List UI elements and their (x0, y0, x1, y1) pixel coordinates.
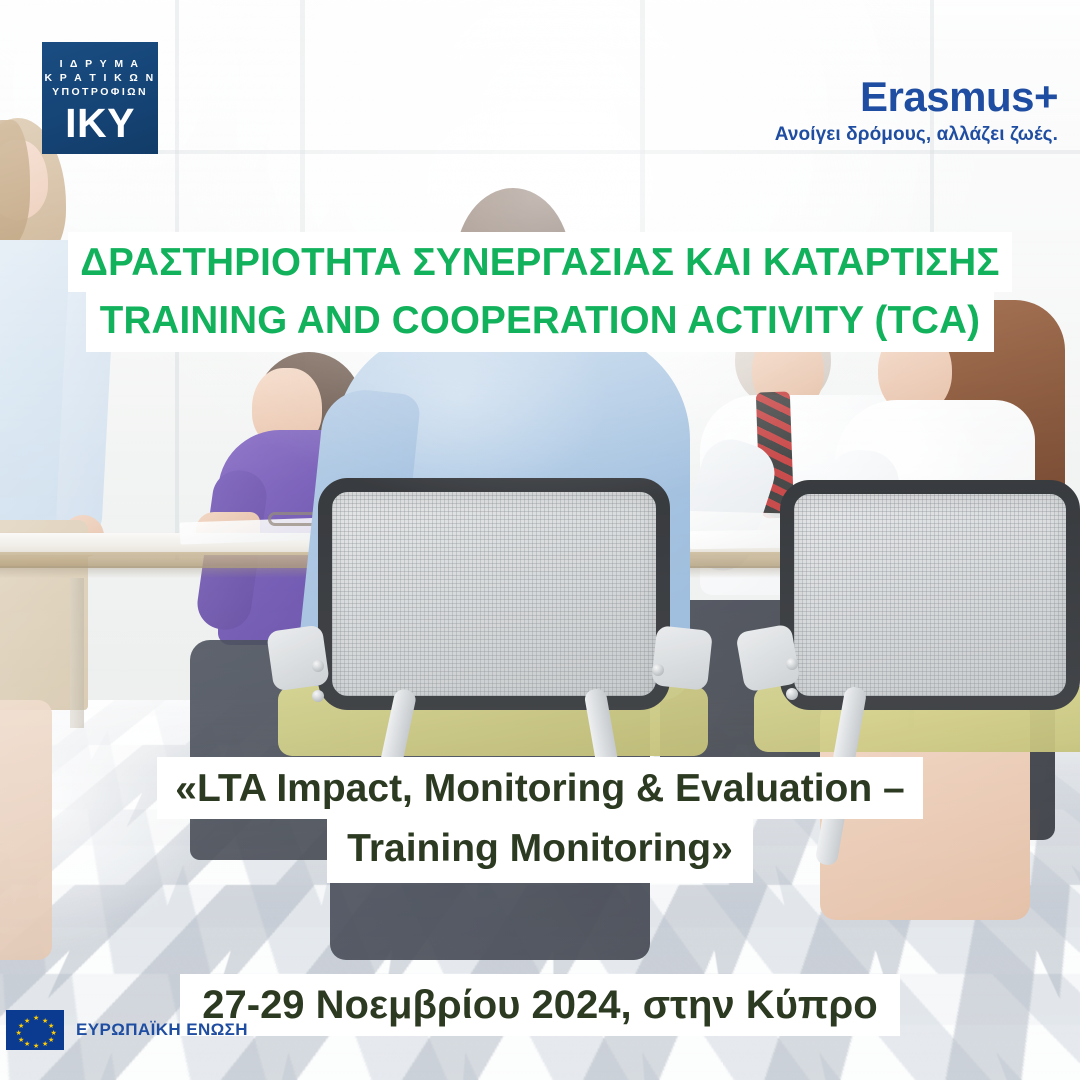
date-location-band: 27-29 Νοεμβρίου 2024, στην Κύπρο (180, 974, 900, 1036)
main-title-block: ΔΡΑΣΤΗΡΙΟΤΗΤΑ ΣΥΝΕΡΓΑΣΙΑΣ ΚΑΙ ΚΑΤΑΡΤΙΣΗΣ… (0, 232, 1080, 352)
chair-bolt (786, 658, 798, 670)
subtitle-band-line-1: «LTA Impact, Monitoring & Evaluation – (157, 757, 922, 819)
title-band-greek: ΔΡΑΣΤΗΡΙΟΤΗΤΑ ΣΥΝΕΡΓΑΣΙΑΣ ΚΑΙ ΚΑΤΑΡΤΙΣΗΣ (68, 232, 1011, 292)
title-line-greek: ΔΡΑΣΤΗΡΙΟΤΗΤΑ ΣΥΝΕΡΓΑΣΙΑΣ ΚΑΙ ΚΑΤΑΡΤΙΣΗΣ (68, 232, 1011, 292)
chair-bolt (312, 690, 324, 702)
chair-bolt (652, 664, 664, 676)
eu-badge-label: ΕΥΡΩΠΑΪΚΗ ΕΝΩΣΗ (76, 1020, 248, 1040)
subtitle-line-2: Training Monitoring» (327, 819, 753, 883)
subtitle-line-1: «LTA Impact, Monitoring & Evaluation – (157, 757, 922, 819)
table-leg (70, 578, 84, 728)
iky-logo-line-1: Ι Δ Ρ Υ Μ Α (60, 57, 141, 71)
eu-flag-icon: ★ ★ ★ ★ ★ ★ ★ ★ ★ ★ ★ ★ (6, 1010, 64, 1050)
chair-armrest (266, 624, 330, 691)
office-chair (318, 478, 670, 710)
title-line-english: TRAINING AND COOPERATION ACTIVITY (TCA) (86, 292, 994, 352)
subtitle-block: «LTA Impact, Monitoring & Evaluation – T… (0, 757, 1080, 883)
european-union-badge: ★ ★ ★ ★ ★ ★ ★ ★ ★ ★ ★ ★ ΕΥΡΩΠΑΪΚΗ ΕΝΩΣΗ (6, 1010, 248, 1050)
date-location-text: 27-29 Νοεμβρίου 2024, στην Κύπρο (180, 974, 900, 1036)
office-chair (780, 480, 1080, 710)
erasmus-wordmark: Erasmus+ (775, 74, 1058, 120)
window-mullion (0, 150, 1080, 154)
background-photo (0, 0, 1080, 1080)
subtitle-band-line-2: Training Monitoring» (327, 819, 753, 883)
chair-bolt (312, 660, 324, 672)
erasmus-plus-logo[interactable]: Erasmus+ Ανοίγει δρόμους, αλλάζει ζωές. (775, 74, 1058, 148)
chair-mesh-back (318, 478, 670, 710)
chair-mesh-back (780, 480, 1080, 710)
iky-logo-line-2: Κ Ρ Α Τ Ι Κ Ω Ν (44, 71, 155, 85)
poster-canvas: Ι Δ Ρ Υ Μ Α Κ Ρ Α Τ Ι Κ Ω Ν ΥΠΟΤΡΟΦΙΩΝ I… (0, 0, 1080, 1080)
iky-logo-mark: IKY (65, 102, 135, 144)
chair-bolt (786, 688, 798, 700)
title-band-english: TRAINING AND COOPERATION ACTIVITY (TCA) (86, 292, 994, 352)
iky-logo-line-3: ΥΠΟΤΡΟΦΙΩΝ (52, 85, 148, 99)
chair-armrest (651, 625, 713, 691)
erasmus-tagline: Ανοίγει δρόμους, αλλάζει ζωές. (775, 122, 1058, 148)
iky-logo[interactable]: Ι Δ Ρ Υ Μ Α Κ Ρ Α Τ Ι Κ Ω Ν ΥΠΟΤΡΟΦΙΩΝ I… (42, 42, 158, 154)
